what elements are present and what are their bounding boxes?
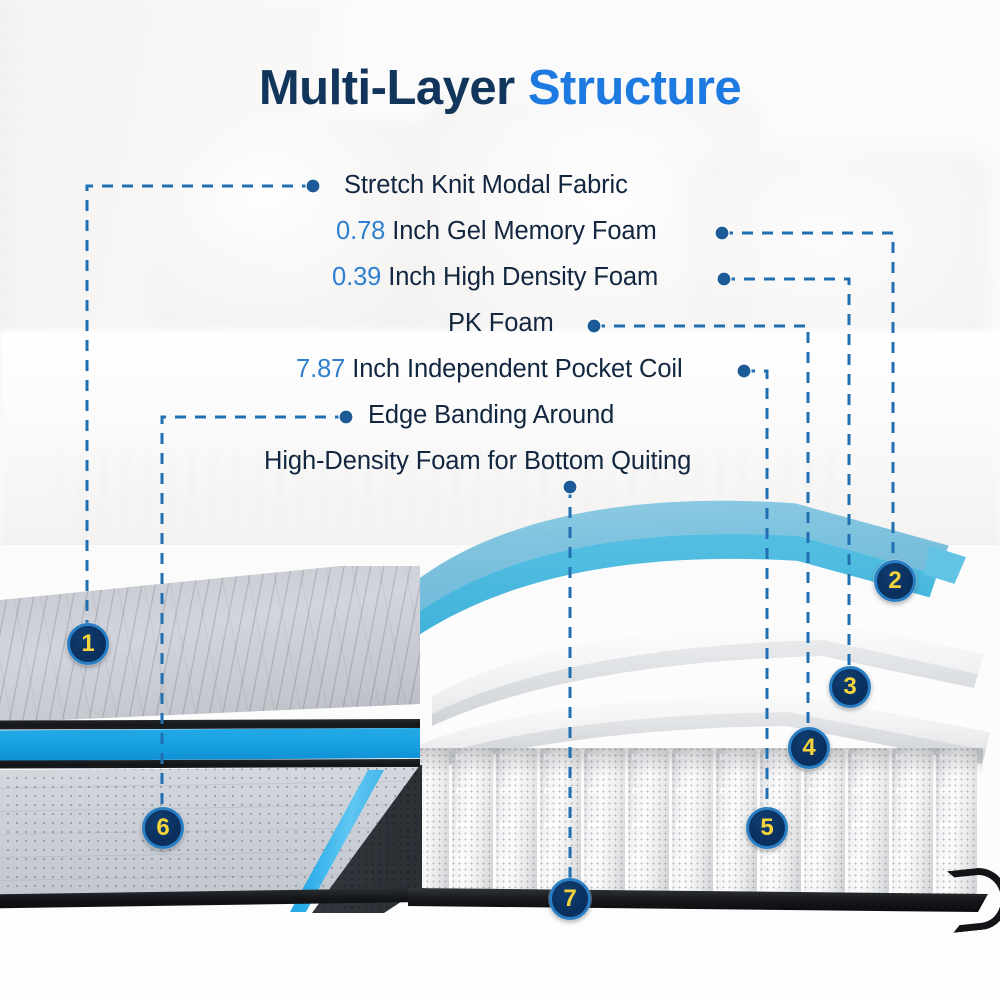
- label-text-6: Edge Banding Around: [368, 401, 614, 429]
- badge-1: 1: [67, 623, 109, 665]
- label-text-3: Inch High Density Foam: [381, 263, 658, 291]
- label-number-2: 0.78: [336, 217, 385, 245]
- label-pk-foam: PK Foam: [448, 309, 554, 338]
- badge-5: 5: [746, 807, 788, 849]
- label-number-3: 0.39: [332, 263, 381, 291]
- layer-label-list: Stretch Knit Modal Fabric 0.78 Inch Gel …: [0, 0, 1000, 520]
- mattress-structure-infographic: Multi-Layer Structure: [0, 0, 1000, 1000]
- label-text-4: PK Foam: [448, 309, 554, 337]
- badge-7: 7: [549, 878, 591, 920]
- badge-4: 4: [788, 727, 830, 769]
- label-stretch-knit-modal-fabric: Stretch Knit Modal Fabric: [344, 171, 628, 200]
- label-text-7: High-Density Foam for Bottom Quiting: [264, 447, 691, 475]
- label-number-5: 7.87: [296, 355, 345, 383]
- label-text-2: Inch Gel Memory Foam: [385, 217, 656, 245]
- label-gel-memory-foam: 0.78 Inch Gel Memory Foam: [336, 217, 657, 246]
- label-independent-pocket-coil: 7.87 Inch Independent Pocket Coil: [296, 355, 683, 384]
- label-bottom-quilting-foam: High-Density Foam for Bottom Quiting: [264, 447, 691, 476]
- label-edge-banding-around: Edge Banding Around: [368, 401, 614, 430]
- badge-2: 2: [874, 560, 916, 602]
- label-text-5: Inch Independent Pocket Coil: [345, 355, 682, 383]
- badge-3: 3: [829, 666, 871, 708]
- badge-6: 6: [142, 807, 184, 849]
- label-text-1: Stretch Knit Modal Fabric: [344, 171, 628, 199]
- label-high-density-foam: 0.39 Inch High Density Foam: [332, 263, 658, 292]
